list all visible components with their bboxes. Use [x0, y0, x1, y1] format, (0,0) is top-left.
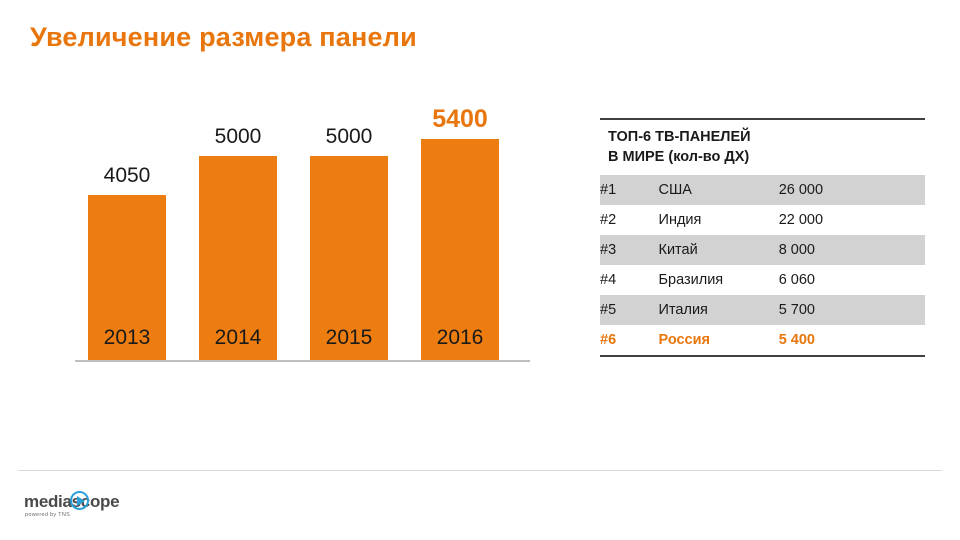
table-bottom-rule [600, 355, 925, 357]
bar-group-2013: 4050 2013 [88, 195, 166, 360]
cell-country: Россия [659, 325, 779, 355]
cell-value: 6 060 [779, 265, 925, 295]
cell-country: Италия [659, 295, 779, 325]
cell-country: США [659, 175, 779, 205]
bar-group-2014: 5000 2014 [199, 156, 277, 360]
table-title: ТОП-6 ТВ-ПАНЕЛЕЙ В МИРЕ (кол-во ДХ) [600, 120, 925, 175]
cell-value: 5 700 [779, 295, 925, 325]
bar-chart: 4050 2013 5000 2014 5000 2015 5400 2016 [40, 110, 560, 430]
cell-value: 26 000 [779, 175, 925, 205]
bar-group-2016: 5400 2016 [421, 139, 499, 360]
bar-group-2015: 5000 2015 [310, 156, 388, 360]
bar-value-label: 5000 [299, 125, 399, 149]
x-tick-label-2014: 2014 [188, 326, 288, 350]
top6-table-block: ТОП-6 ТВ-ПАНЕЛЕЙ В МИРЕ (кол-во ДХ) #1 С… [600, 118, 925, 357]
table-title-line1: ТОП-6 ТВ-ПАНЕЛЕЙ [608, 128, 917, 148]
cell-country: Бразилия [659, 265, 779, 295]
table-row[interactable]: #5 Италия 5 700 [600, 295, 925, 325]
page-title: Увеличение размера панели [30, 22, 417, 53]
footer-divider [18, 470, 942, 471]
table-row[interactable]: #4 Бразилия 6 060 [600, 265, 925, 295]
logo-tagline: powered by TNS [25, 512, 70, 518]
x-tick-label-2016: 2016 [410, 326, 510, 350]
bar-value-label: 5000 [188, 125, 288, 149]
x-tick-label-2015: 2015 [299, 326, 399, 350]
cell-rank: #3 [600, 235, 659, 265]
cell-value: 5 400 [779, 325, 925, 355]
table-title-line2: В МИРЕ (кол-во ДХ) [608, 148, 917, 168]
cell-country: Китай [659, 235, 779, 265]
cell-rank: #5 [600, 295, 659, 325]
x-tick-label-2013: 2013 [77, 326, 177, 350]
cell-value: 8 000 [779, 235, 925, 265]
cell-rank: #2 [600, 205, 659, 235]
bar-value-label-highlight: 5400 [410, 105, 510, 134]
cell-value: 22 000 [779, 205, 925, 235]
bar-value-label: 4050 [77, 164, 177, 188]
cell-country: Индия [659, 205, 779, 235]
mediascope-logo: mediascope powered by TNS [24, 490, 134, 528]
cell-rank: #4 [600, 265, 659, 295]
top6-table: #1 США 26 000 #2 Индия 22 000 #3 Китай 8… [600, 175, 925, 355]
play-triangle-icon [77, 496, 85, 506]
cell-rank: #6 [600, 325, 659, 355]
cell-rank: #1 [600, 175, 659, 205]
x-axis-line [75, 360, 530, 362]
table-row[interactable]: #3 Китай 8 000 [600, 235, 925, 265]
table-row-highlight[interactable]: #6 Россия 5 400 [600, 325, 925, 355]
table-row[interactable]: #1 США 26 000 [600, 175, 925, 205]
chart-plot-area: 4050 2013 5000 2014 5000 2015 5400 2016 [60, 110, 540, 410]
table-row[interactable]: #2 Индия 22 000 [600, 205, 925, 235]
slide: Увеличение размера панели 4050 2013 5000… [0, 0, 960, 540]
